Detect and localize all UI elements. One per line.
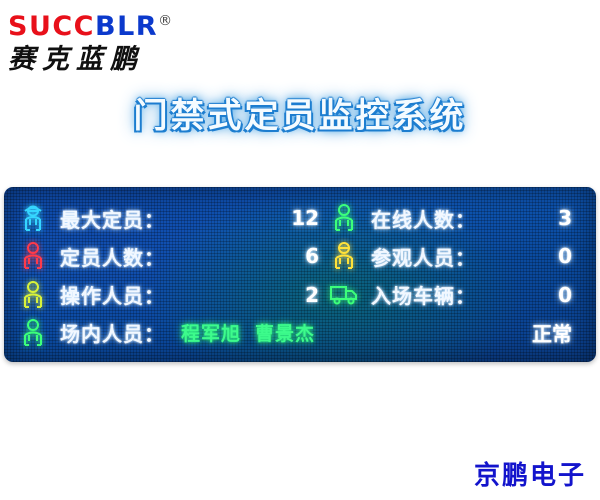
page-title: 门禁式定员监控系统 [0,88,600,137]
person-icon [18,240,48,272]
led-row-max-capacity: 最大定员： 12 [18,199,329,237]
led-value-visitor-count: 0 [558,244,582,268]
person-helmet-icon [18,202,48,234]
led-label-max-capacity: 最大定员： [60,204,165,233]
led-label-staff-quota: 定员人数： [60,242,165,271]
led-label-operator-count: 操作人员： [60,280,165,309]
led-onsite-names-list: 程军旭曹景杰 [181,319,329,346]
onsite-name-1: 程军旭 [181,323,241,345]
led-label-vehicles-entered: 入场车辆： [371,280,476,309]
led-row-staff-quota: 定员人数： 6 [18,237,329,275]
led-label-online-count: 在线人数： [371,204,476,233]
person-icon [18,317,48,349]
led-row-online-count: 在线人数： 3 [329,199,582,237]
led-row-status: 正常 [329,314,582,352]
person-icon [329,202,359,234]
led-value-max-capacity: 12 [291,206,329,230]
logo-blr-text: BLR [95,11,158,42]
led-row-vehicles-entered: 入场车辆： 0 [329,276,582,314]
person-icon [18,279,48,311]
led-value-staff-quota: 6 [305,244,329,268]
logo-succ-text: SUCC [8,11,95,42]
onsite-name-2: 曹景杰 [255,323,315,345]
led-label-visitor-count: 参观人员： [371,242,476,271]
logo-latin-text: SUCCBLR® [8,6,238,42]
led-row-visitor-count: 参观人员： 0 [329,237,582,275]
status-badge: 正常 [532,318,582,347]
led-row-operator-count: 操作人员： 2 [18,276,329,314]
footer-brand-text: 京鹏电子 [474,455,586,492]
led-value-online-count: 3 [558,206,582,230]
led-label-onsite-personnel: 场内人员： [60,318,165,347]
logo-chinese-text: 赛克蓝鹏 [8,44,238,76]
led-rows-grid: 最大定员： 12 在线人数： 3 [4,187,596,362]
registered-trademark-icon: ® [158,13,172,29]
led-row-onsite-personnel: 场内人员： 程军旭曹景杰 [18,314,329,352]
led-value-operator-count: 2 [305,283,329,307]
person-icon [329,240,359,272]
led-display-panel: 最大定员： 12 在线人数： 3 [4,187,596,362]
truck-icon [329,279,359,311]
company-logo: SUCCBLR® 赛克蓝鹏 [8,6,238,72]
led-value-vehicles-entered: 0 [558,283,582,307]
